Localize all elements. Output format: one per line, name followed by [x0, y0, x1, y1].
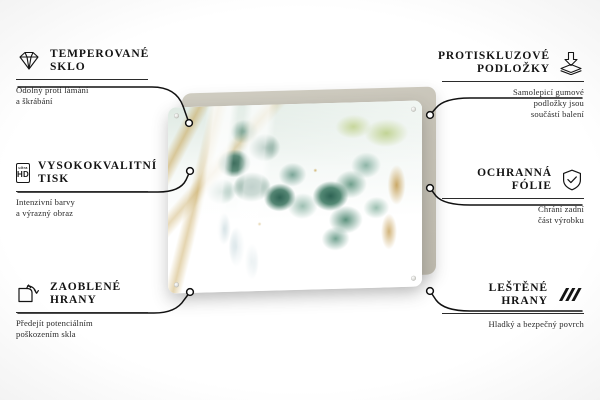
divider [442, 313, 584, 314]
feature-title-line2: PODLOŽKY [438, 63, 550, 76]
feature-header: ZAOBLENÉ HRANY [16, 281, 148, 307]
arrow-onto-pad-icon [558, 51, 584, 75]
feature-protective-film: OCHRANNÁ FÓLIE Chrání zadní část výrobku [442, 167, 584, 226]
feature-title-line1: VYSOKOKVALITNÍ [38, 160, 157, 173]
feature-title-line1: OCHRANNÁ [477, 167, 552, 180]
feature-anti-slip-pads: PROTISKLUZOVÉ PODLOŽKY Samolepicí gumové… [442, 50, 584, 120]
feature-high-quality-print: ultra HD VYSOKOKVALITNÍ TISK Intenzivní … [16, 160, 148, 219]
feature-desc-line1: Intenzivní barvy [16, 197, 148, 208]
feature-polished-edges: LEŠTĚNÉ HRANY Hladký a bezpečný povrch [442, 282, 584, 330]
feature-title-line1: TEMPEROVANÉ [50, 48, 149, 61]
divider [16, 79, 148, 80]
feature-desc-line2: a výrazný obraz [16, 208, 148, 219]
eucalyptus-artwork [168, 100, 422, 293]
divider [442, 81, 584, 82]
feature-title-line2: SKLO [50, 61, 149, 74]
infographic-canvas: TEMPEROVANÉ SKLO Odolný proti lámání a š… [0, 0, 600, 400]
feature-desc-line1: Chrání zadní [442, 204, 584, 215]
ultra-hd-icon: ultra HD [16, 163, 30, 183]
ultra-hd-icon-main-label: HD [17, 171, 29, 179]
feature-tempered-glass: TEMPEROVANÉ SKLO Odolný proti lámání a š… [16, 48, 148, 107]
feature-rounded-edges: ZAOBLENÉ HRANY Předejít potenciálním poš… [16, 281, 148, 340]
feature-desc-line2: poškozením skla [16, 329, 148, 340]
feature-desc-line2: a škrábání [16, 96, 148, 107]
feature-title-line2: HRANY [50, 294, 121, 307]
feature-desc-line2: část výrobku [442, 215, 584, 226]
feature-desc-line1: Předejít potenciálním [16, 318, 148, 329]
feature-title-line1: PROTISKLUZOVÉ [438, 50, 550, 63]
rounded-corner-icon [16, 283, 42, 305]
hatch-lines-icon [556, 285, 584, 305]
feature-title-line2: TISK [38, 173, 157, 186]
feature-header: ultra HD VYSOKOKVALITNÍ TISK [16, 160, 148, 186]
feature-header: LEŠTĚNÉ HRANY [442, 282, 584, 308]
glass-cutting-board [168, 100, 422, 293]
shield-check-icon [560, 168, 584, 192]
divider [16, 191, 148, 192]
feature-desc-line1: Samolepicí gumové [442, 87, 584, 98]
feature-desc-line2: podložky jsou [442, 98, 584, 109]
product-image [168, 90, 436, 295]
feature-title-line1: LEŠTĚNÉ [489, 282, 548, 295]
divider [16, 312, 148, 313]
feature-desc-line1: Odolný proti lámání [16, 85, 148, 96]
divider [442, 198, 584, 199]
feature-header: TEMPEROVANÉ SKLO [16, 48, 148, 74]
feature-header: OCHRANNÁ FÓLIE [442, 167, 584, 193]
feature-header: PROTISKLUZOVÉ PODLOŽKY [442, 50, 584, 76]
feature-desc-line1: Hladký a bezpečný povrch [442, 319, 584, 330]
feature-title-line1: ZAOBLENÉ [50, 281, 121, 294]
diamond-icon [16, 50, 42, 72]
feature-title-line2: HRANY [489, 295, 548, 308]
feature-title-line2: FÓLIE [477, 180, 552, 193]
feature-desc-line3: součástí balení [442, 109, 584, 120]
